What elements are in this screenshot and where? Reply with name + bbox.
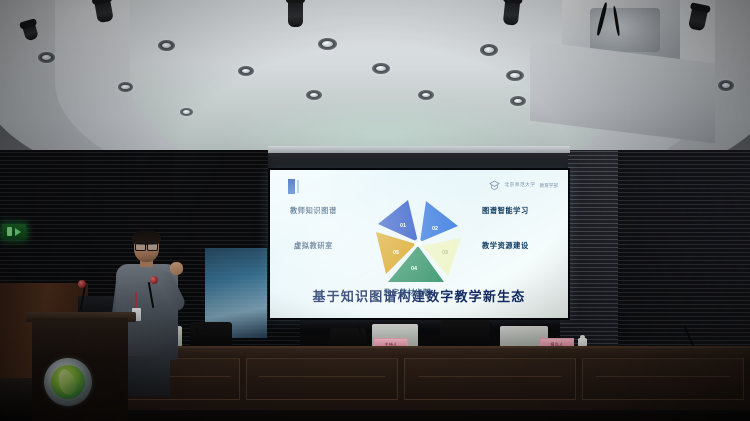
desk-panel xyxy=(582,358,744,400)
slide-logo-sub: 教育学部 xyxy=(540,183,558,189)
slide-logo-org: 北京师范大学 xyxy=(504,182,535,189)
pinwheel-hub xyxy=(414,239,422,247)
downlight xyxy=(118,82,133,92)
downlight xyxy=(372,63,390,74)
downlight xyxy=(418,90,434,100)
presenter-right-hand xyxy=(170,262,183,275)
pinwheel-label-01: 01 xyxy=(400,223,406,229)
pinwheel-caption-01: 教师知识图谱 xyxy=(290,206,337,216)
pinwheel-svg: 01 02 03 04 05 xyxy=(366,194,472,286)
downlight xyxy=(318,38,337,50)
slide-decor-mark xyxy=(288,179,295,194)
running-man-glyph xyxy=(7,227,12,236)
pinwheel-diagram: 01 02 03 04 05 xyxy=(366,194,472,286)
downlight xyxy=(306,90,322,100)
pinwheel-label-04: 04 xyxy=(411,266,418,272)
screen-cornice xyxy=(268,146,570,153)
desk-panel xyxy=(404,358,576,400)
downlight xyxy=(180,108,193,116)
downlight xyxy=(158,40,175,51)
pinwheel-segment-02 xyxy=(420,201,458,242)
podium-crest-icon xyxy=(44,358,92,406)
pinwheel-caption-03: 教学资源建设 xyxy=(482,241,529,251)
slide-title: 基于知识图谱构建数字教学新生态 xyxy=(270,286,568,305)
exit-sign-icon xyxy=(2,224,26,239)
downlight xyxy=(506,70,524,81)
spotlight-fixture xyxy=(503,0,521,26)
downlight xyxy=(718,80,734,91)
university-emblem-icon xyxy=(489,180,500,191)
pinwheel-label-03: 03 xyxy=(442,250,448,256)
podium-microphone-head xyxy=(78,280,86,288)
glasses-icon xyxy=(135,243,158,249)
desk-panel xyxy=(246,358,398,400)
pinwheel-caption-05: 虚拟教研室 xyxy=(294,241,333,251)
downlight xyxy=(480,44,498,56)
pinwheel-label-02: 02 xyxy=(432,226,438,232)
pinwheel-caption-02: 图谱智能学习 xyxy=(482,206,529,216)
presenter-legs xyxy=(124,356,170,396)
slide-logo: 北京师范大学 教育学部 xyxy=(489,180,558,191)
downlight xyxy=(238,66,254,76)
downlight xyxy=(510,96,526,106)
podium-microphone-head xyxy=(150,276,158,284)
downlight xyxy=(38,52,55,63)
projected-slide: 北京师范大学 教育学部 01 02 03 04 05 xyxy=(270,170,568,318)
spotlight-fixture xyxy=(94,0,114,23)
exit-arrow-glyph xyxy=(15,228,21,236)
presentation-photo-scene: 北京师范大学 教育学部 01 02 03 04 05 xyxy=(0,0,750,421)
head-table xyxy=(120,346,750,410)
spotlight-fixture xyxy=(288,0,303,27)
pinwheel-label-05: 05 xyxy=(393,250,399,256)
